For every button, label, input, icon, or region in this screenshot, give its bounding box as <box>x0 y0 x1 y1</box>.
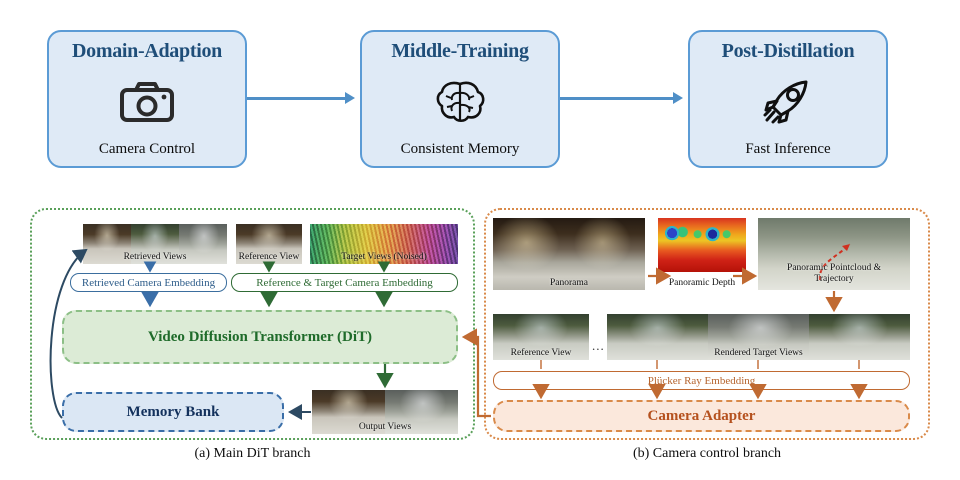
pipeline-stage-middle-training[interactable]: Middle-Training Consistent Memory <box>360 30 560 168</box>
thumbnail-label: Panoramic Depth <box>658 278 746 290</box>
reference-target-camera-embedding-label: Reference & Target Camera Embedding <box>256 277 433 289</box>
stage-subtitle: Fast Inference <box>745 141 830 166</box>
stage-subtitle: Camera Control <box>99 141 195 166</box>
memory-bank-label: Memory Bank <box>127 404 220 421</box>
plucker-ray-embedding-label: Plücker Ray Embedding <box>648 375 756 387</box>
thumbnail-label: Reference View <box>493 348 589 360</box>
stage-title: Domain-Adaption <box>72 41 222 62</box>
stage-title: Middle-Training <box>391 41 528 62</box>
rocket-icon <box>762 62 814 141</box>
dit-label: Video Diffusion Transformer (DiT) <box>148 329 372 346</box>
thumbnail-label: Output Views <box>312 422 458 434</box>
video-diffusion-transformer-box[interactable]: Video Diffusion Transformer (DiT) <box>62 310 458 364</box>
thumbnail-rendered-target-views: Rendered Target Views <box>607 314 910 360</box>
thumbnail-label-line2: Trajectory <box>758 274 910 284</box>
thumbnail-label: Panorama <box>493 278 645 290</box>
thumbnail-panoramic-depth: Panoramic Depth <box>658 218 746 290</box>
thumbnail-label: Reference View <box>236 252 302 264</box>
ellipsis-separator: ... <box>592 338 605 354</box>
retrieved-camera-embedding-label: Retrieved Camera Embedding <box>82 277 215 289</box>
plucker-ray-embedding-box[interactable]: Plücker Ray Embedding <box>493 371 910 390</box>
thumbnail-label: Target Views (Noised) <box>310 252 458 264</box>
stage-subtitle: Consistent Memory <box>401 141 520 166</box>
thumbnail-label: Retrieved Views <box>83 252 227 264</box>
pipeline-arrow-2-head <box>673 92 683 104</box>
brain-icon <box>434 62 486 141</box>
thumbnail-label: Panoramic Pointcloud & <box>758 263 910 273</box>
thumbnail-panoramic-pointcloud: Panoramic Pointcloud & Trajectory <box>758 218 910 290</box>
retrieved-camera-embedding-box[interactable]: Retrieved Camera Embedding <box>70 273 227 292</box>
camera-adapter-label: Camera Adapter <box>648 408 756 425</box>
pipeline-arrow-1-head <box>345 92 355 104</box>
thumbnail-label: Rendered Target Views <box>607 348 910 360</box>
thumbnail-reference-view-a: Reference View <box>236 224 302 264</box>
panel-a-caption: (a) Main DiT branch <box>30 446 475 462</box>
memory-bank-box[interactable]: Memory Bank <box>62 392 284 432</box>
camera-icon <box>119 62 175 141</box>
thumbnail-output-views: Output Views <box>312 390 458 434</box>
thumbnail-panorama: Panorama <box>493 218 645 290</box>
panel-b-caption: (b) Camera control branch <box>484 446 930 462</box>
pipeline-arrow-1-line <box>247 97 345 100</box>
thumbnail-target-views-noised: Target Views (Noised) <box>310 224 458 264</box>
figure-canvas: Domain-Adaption Camera Control Middle-Tr… <box>0 0 960 480</box>
thumbnail-reference-view-b: Reference View <box>493 314 589 360</box>
pipeline-arrow-2-line <box>560 97 673 100</box>
pipeline-stage-post-distillation[interactable]: Post-Distillation Fast Inference <box>688 30 888 168</box>
camera-adapter-box[interactable]: Camera Adapter <box>493 400 910 432</box>
stage-title: Post-Distillation <box>722 41 855 62</box>
thumbnail-retrieved-views: Retrieved Views <box>83 224 227 264</box>
pipeline-stage-domain-adaption[interactable]: Domain-Adaption Camera Control <box>47 30 247 168</box>
reference-target-camera-embedding-box[interactable]: Reference & Target Camera Embedding <box>231 273 458 292</box>
